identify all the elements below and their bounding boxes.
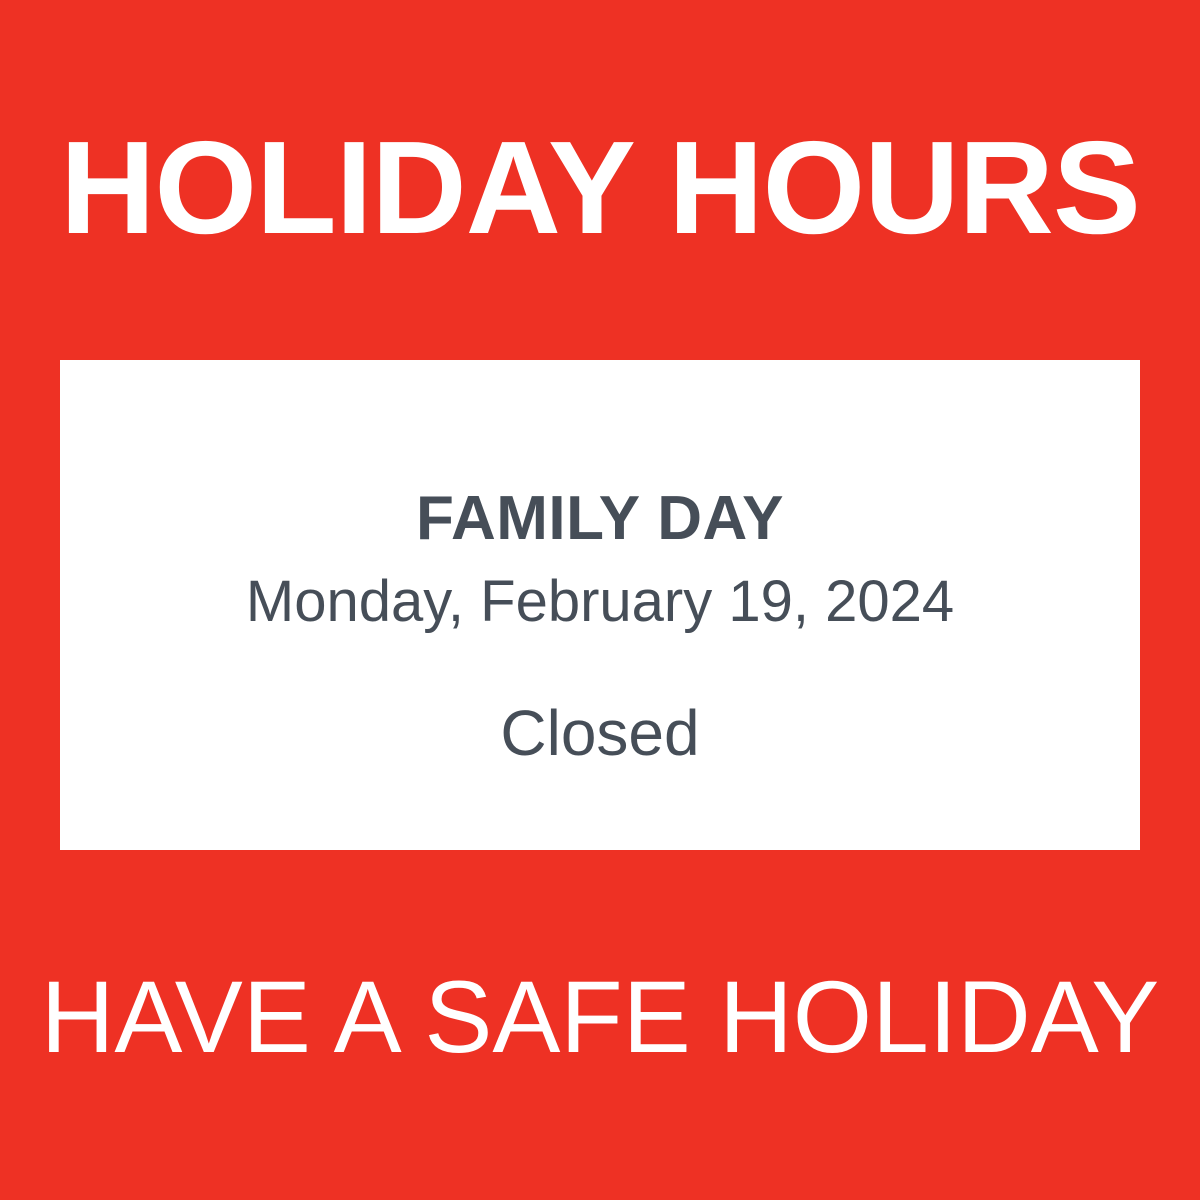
headline-band: HOLIDAY HOURS [0, 0, 1200, 360]
message-band: HAVE A SAFE HOLIDAY [0, 850, 1200, 1200]
page-title: HOLIDAY HOURS [60, 106, 1140, 254]
holiday-details-card: FAMILY DAY Monday, February 19, 2024 Clo… [60, 360, 1140, 850]
safety-message: HAVE A SAFE HOLIDAY [41, 966, 1160, 1084]
hours-status: Closed [500, 695, 699, 772]
holiday-name: FAMILY DAY [416, 482, 784, 555]
holiday-hours-sign: HOLIDAY HOURS FAMILY DAY Monday, Februar… [0, 0, 1200, 1200]
holiday-date: Monday, February 19, 2024 [246, 567, 954, 637]
